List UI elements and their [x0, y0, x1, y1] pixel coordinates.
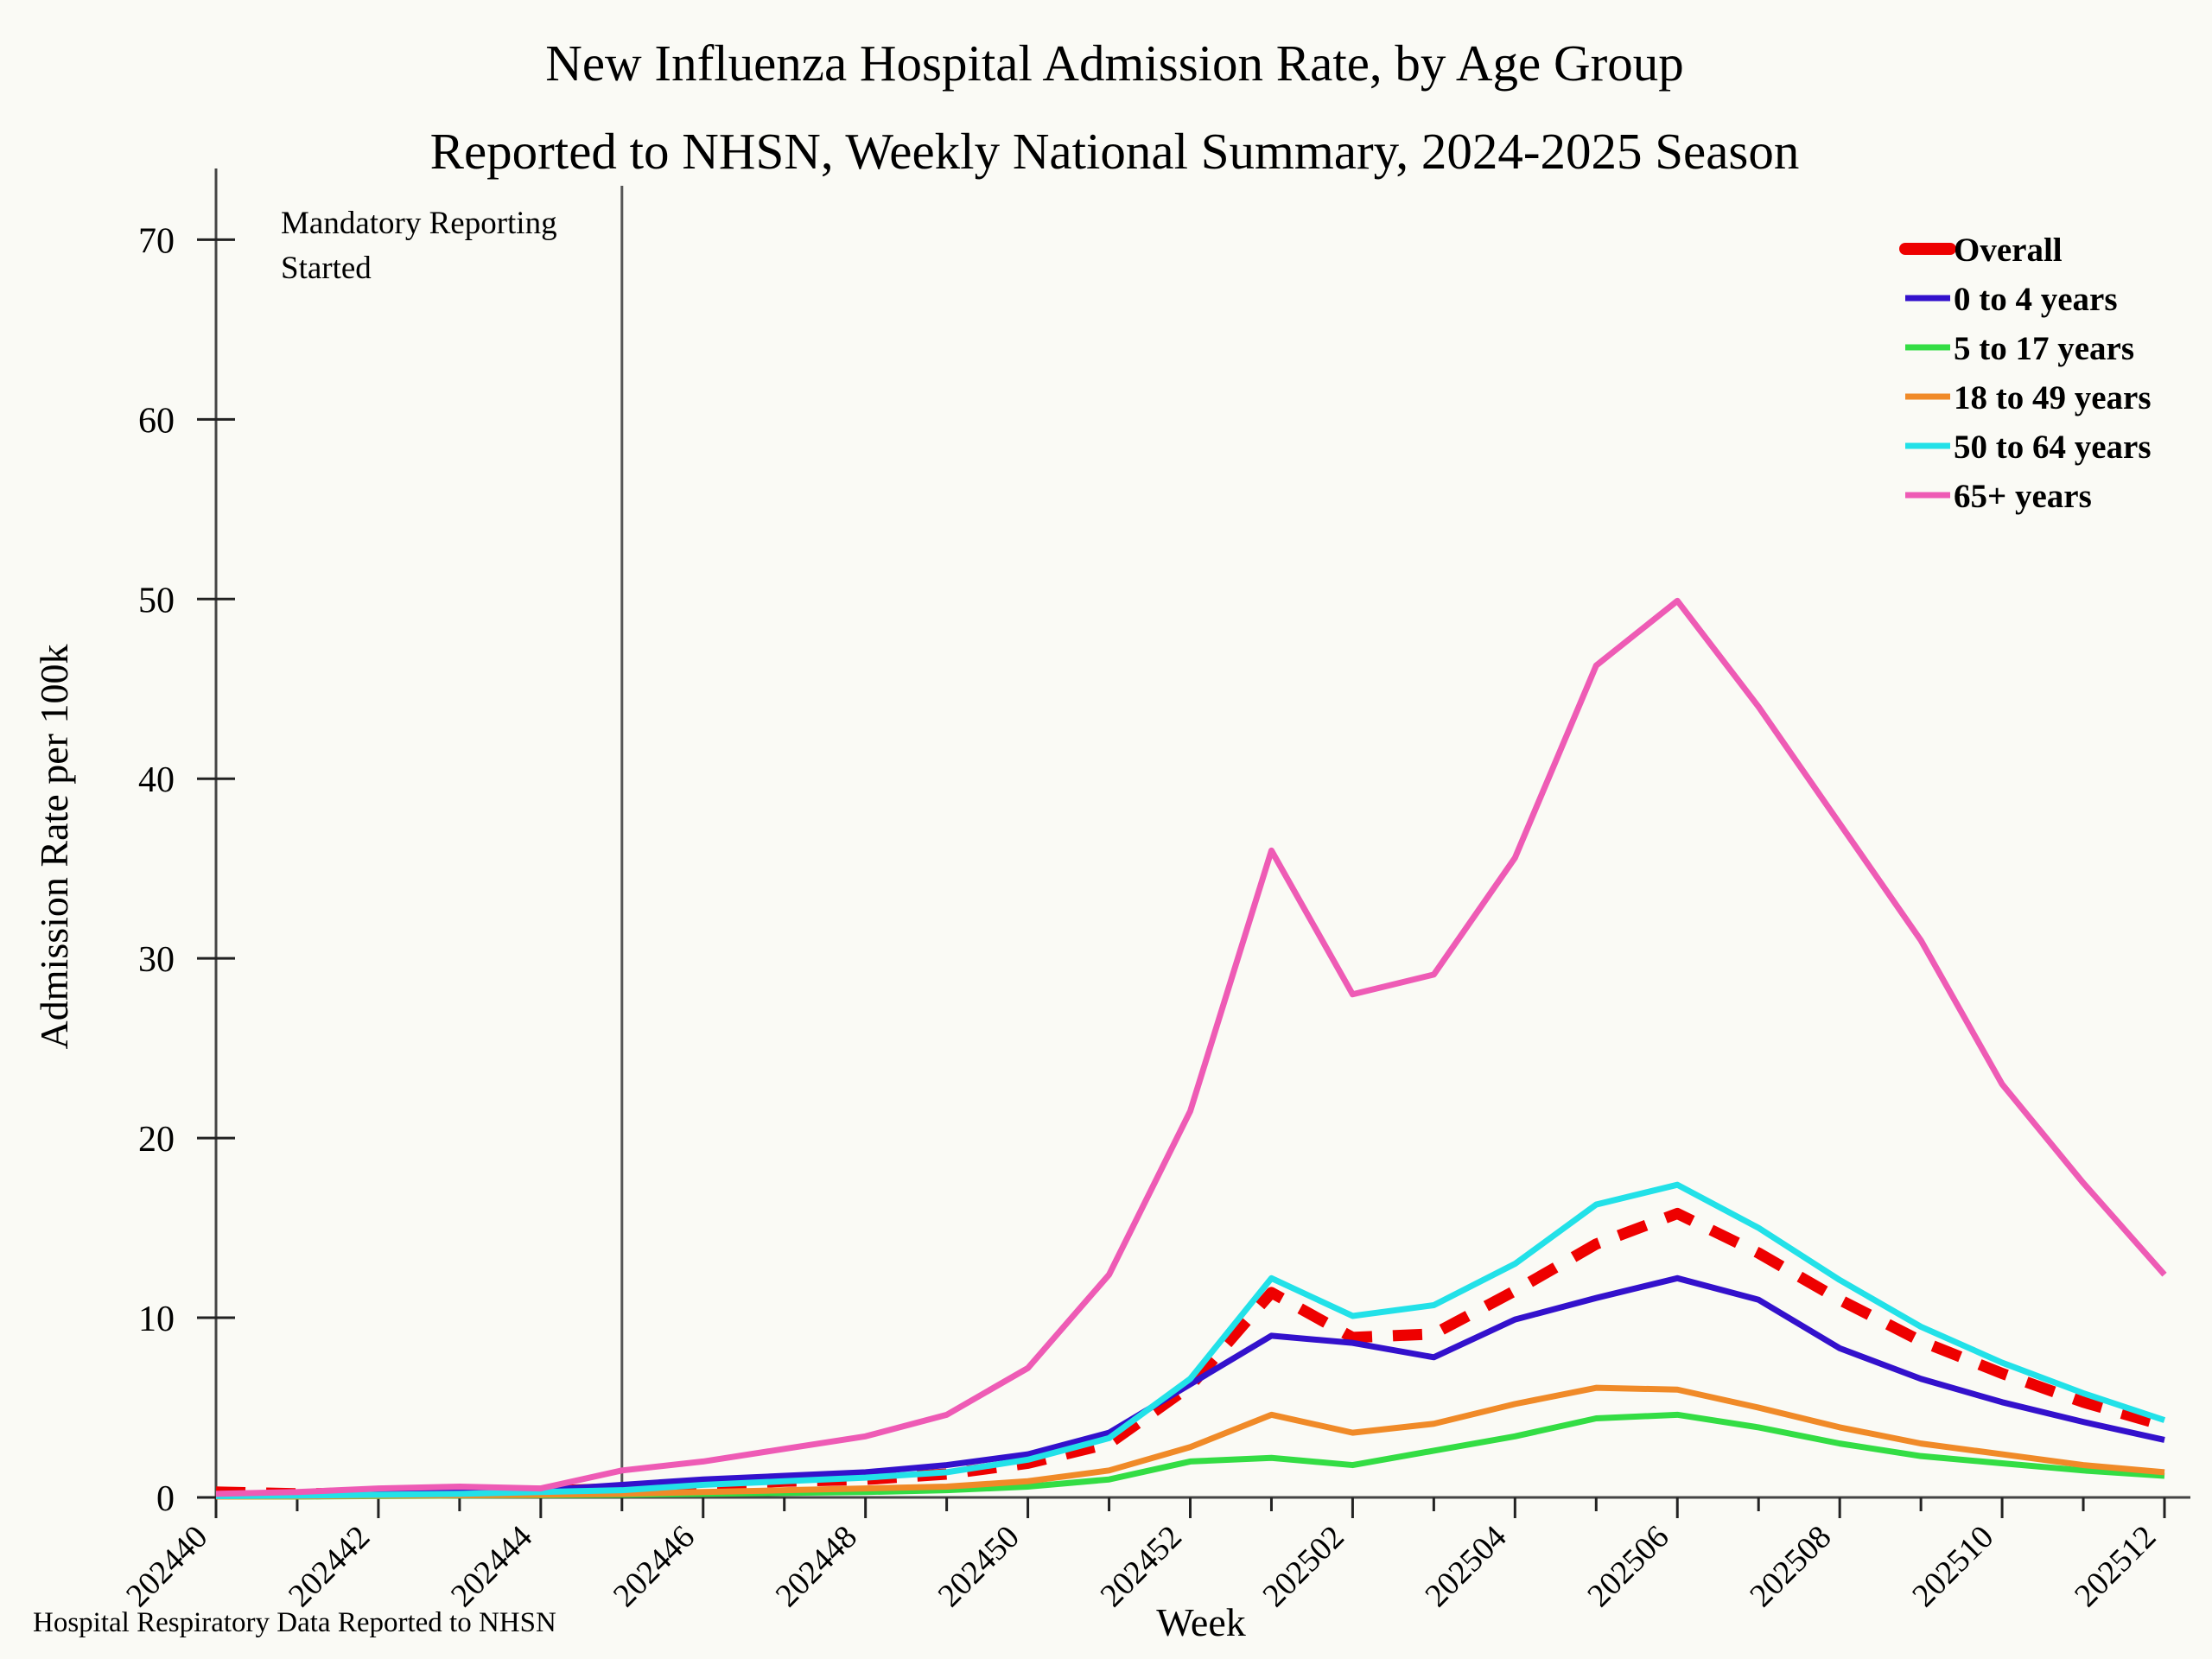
annotation-line-1: Mandatory Reporting: [281, 206, 557, 241]
annotation-line-2: Started: [281, 251, 372, 286]
y-tick-label: 40: [138, 760, 175, 800]
y-tick-label: 20: [138, 1120, 175, 1160]
legend-label: 18 to 49 years: [1954, 379, 2152, 416]
legend-label: 5 to 17 years: [1954, 330, 2134, 367]
y-axis-label: Admission Rate per 100k: [32, 645, 76, 1050]
legend-label: 50 to 64 years: [1954, 429, 2152, 466]
y-tick-label: 30: [138, 940, 175, 980]
y-tick-label: 70: [138, 221, 175, 261]
legend-label: Overall: [1954, 232, 2063, 269]
y-tick-label: 50: [138, 581, 175, 620]
chart-background: [0, 0, 2212, 1659]
influenza-admission-rate-chart: New Influenza Hospital Admission Rate, b…: [0, 0, 2212, 1659]
chart-subtitle: Reported to NHSN, Weekly National Summar…: [430, 123, 1800, 180]
chart-svg: New Influenza Hospital Admission Rate, b…: [0, 0, 2212, 1659]
chart-footer: Hospital Respiratory Data Reported to NH…: [33, 1607, 556, 1638]
y-tick-label: 10: [138, 1300, 175, 1339]
x-axis-label: Week: [1156, 1600, 1246, 1644]
legend-label: 65+ years: [1954, 478, 2092, 515]
legend-label: 0 to 4 years: [1954, 281, 2118, 318]
y-tick-label: 0: [156, 1479, 175, 1519]
chart-title: New Influenza Hospital Admission Rate, b…: [545, 35, 1683, 92]
y-tick-label: 60: [138, 401, 175, 441]
